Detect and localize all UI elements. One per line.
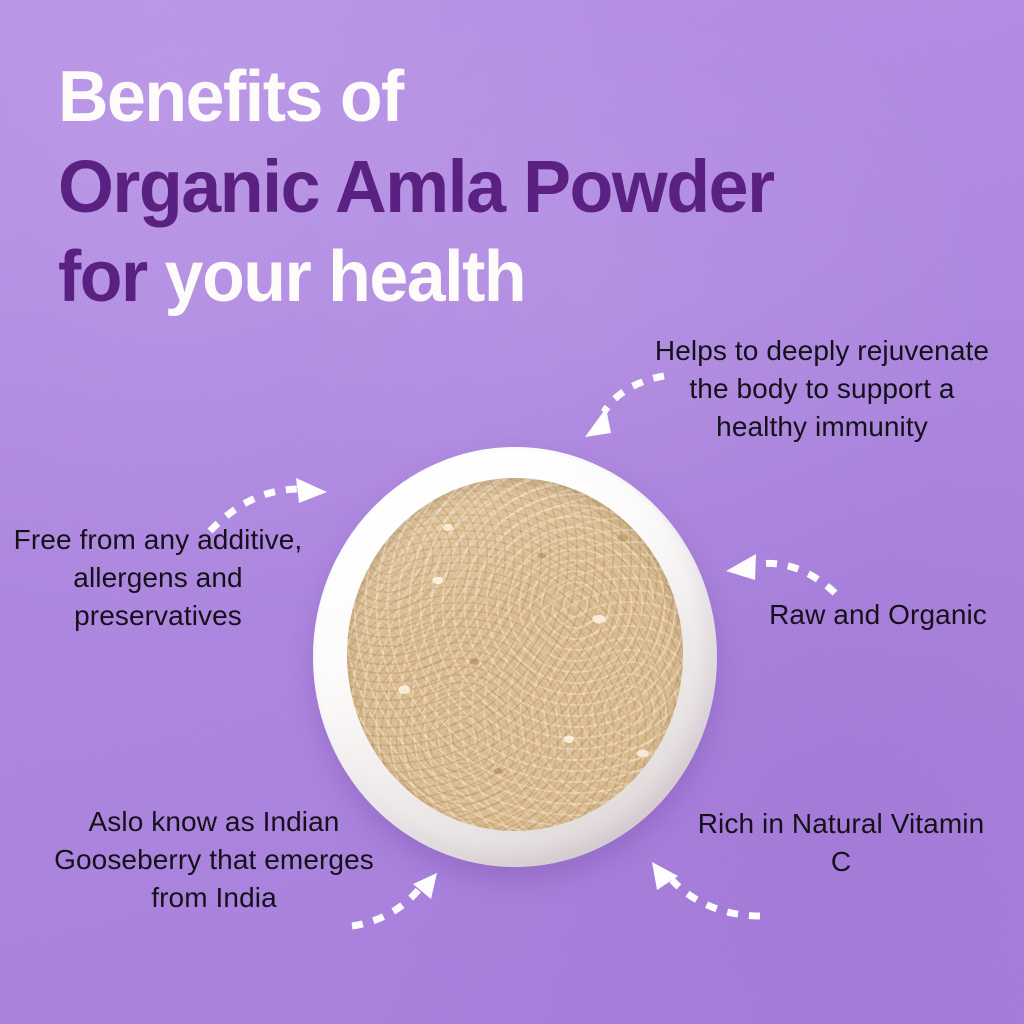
bowl-interior (347, 478, 683, 831)
callout-additive: Free from any additive, allergens and pr… (12, 521, 304, 635)
title-line-2: Organic Amla Powder (58, 142, 970, 232)
title-line-3: for your health (58, 232, 970, 322)
callout-india: Aslo know as Indian Gooseberry that emer… (28, 803, 400, 917)
powder-shading (347, 478, 683, 831)
page-title: Benefits of Organic Amla Powder for your… (58, 52, 998, 322)
title-line-1: Benefits of (58, 52, 970, 142)
title-line-3-suffix: your health (165, 237, 525, 317)
title-line-3-prefix: for (58, 237, 165, 317)
callout-raw-organic: Raw and Organic (760, 596, 996, 634)
callout-vitamin-c: Rich in Natural Vitamin C (692, 805, 990, 881)
callout-immunity: Helps to deeply rejuvenate the body to s… (640, 332, 1004, 446)
